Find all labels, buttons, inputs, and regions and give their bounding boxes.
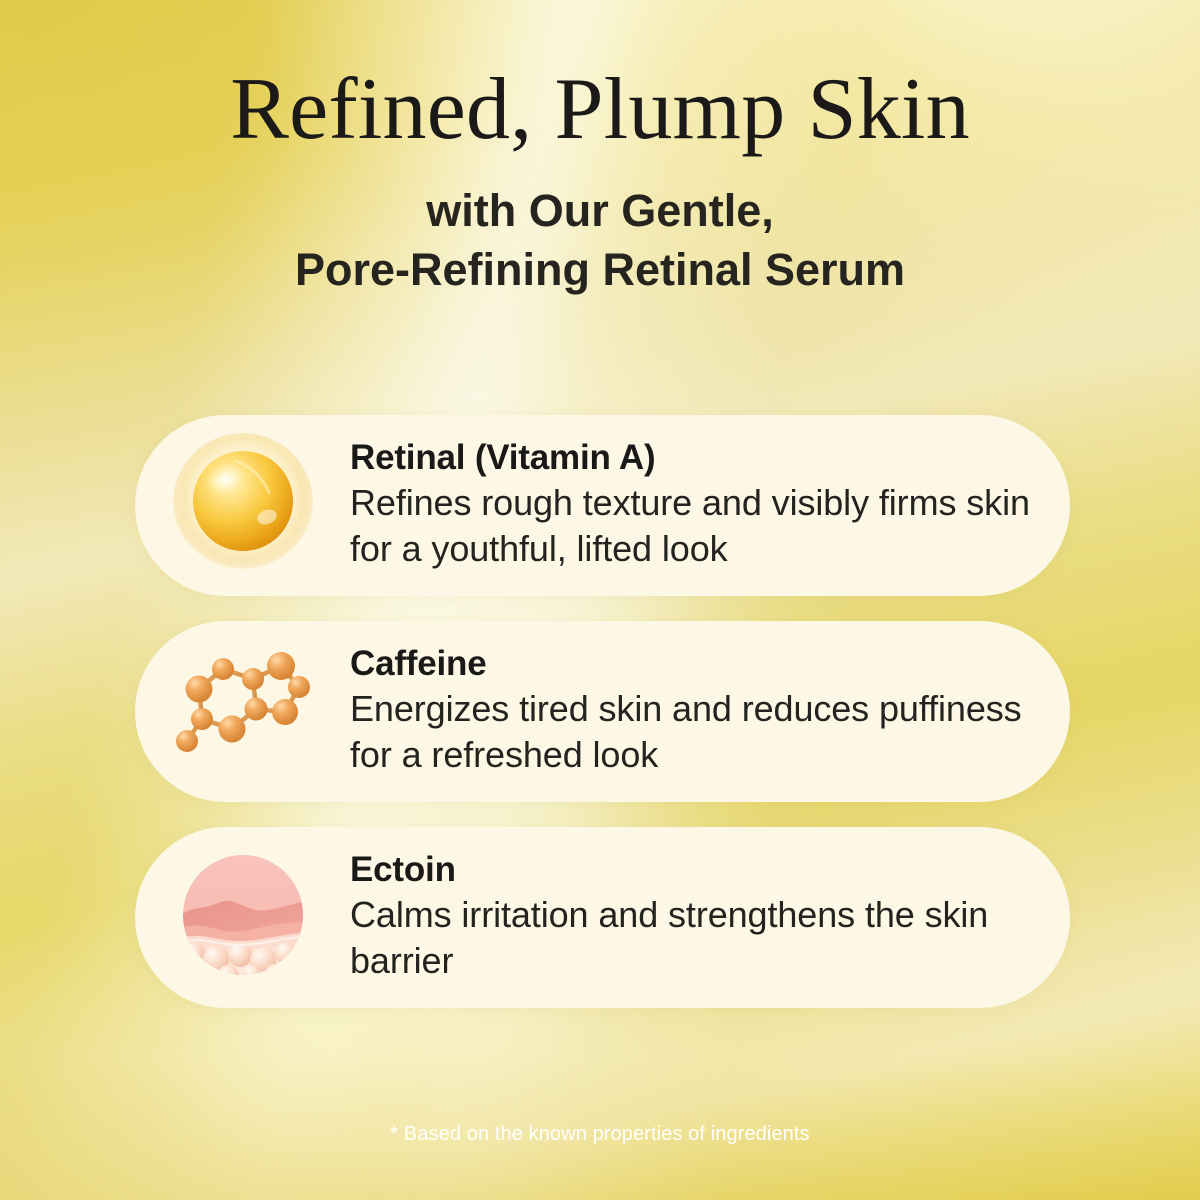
ingredient-description: Energizes tired skin and reduces puffine…	[350, 686, 1070, 777]
description-line-1: Calms irritation and strengthens the	[350, 894, 915, 935]
subtitle-line-2: Pore-Refining Retinal Serum	[0, 241, 1200, 300]
golden-droplet-icon	[168, 431, 318, 581]
ingredient-text-caffeine: Caffeine Energizes tired skin and reduce…	[350, 643, 1070, 780]
description-line-1: Energizes tired skin and reduces	[350, 688, 869, 729]
footnote-disclaimer: * Based on the known properties of ingre…	[0, 1123, 1200, 1146]
ingredient-description: Refines rough texture and visibly firms …	[350, 480, 1070, 571]
ingredient-title: Ectoin	[350, 849, 1070, 890]
subtitle-line-1: with Our Gentle,	[0, 182, 1200, 241]
page-title: Refined, Plump Skin	[0, 66, 1200, 154]
ingredient-text-ectoin: Ectoin Calms irritation and strengthens …	[350, 849, 1070, 986]
ingredient-description: Calms irritation and strengthens the ski…	[350, 892, 1070, 983]
description-line-1: Refines rough texture and visibly firms	[350, 482, 956, 523]
ingredient-text-retinal: Retinal (Vitamin A) Refines rough textur…	[350, 437, 1070, 574]
skin-layers-icon	[168, 843, 318, 993]
ingredient-card-ectoin[interactable]: Ectoin Calms irritation and strengthens …	[135, 827, 1070, 1008]
content-container: Refined, Plump Skin with Our Gentle, Por…	[0, 0, 1200, 1200]
ingredient-title: Retinal (Vitamin A)	[350, 437, 1070, 478]
caffeine-molecule-icon	[168, 637, 318, 787]
ingredient-card-caffeine[interactable]: Caffeine Energizes tired skin and reduce…	[135, 621, 1070, 802]
promo-graphic: Refined, Plump Skin with Our Gentle, Por…	[0, 0, 1200, 1200]
page-subtitle: with Our Gentle, Pore-Refining Retinal S…	[0, 182, 1200, 299]
ingredient-title: Caffeine	[350, 643, 1070, 684]
ingredient-card-retinal[interactable]: Retinal (Vitamin A) Refines rough textur…	[135, 415, 1070, 596]
ingredient-card-list: Retinal (Vitamin A) Refines rough textur…	[135, 415, 1070, 1008]
